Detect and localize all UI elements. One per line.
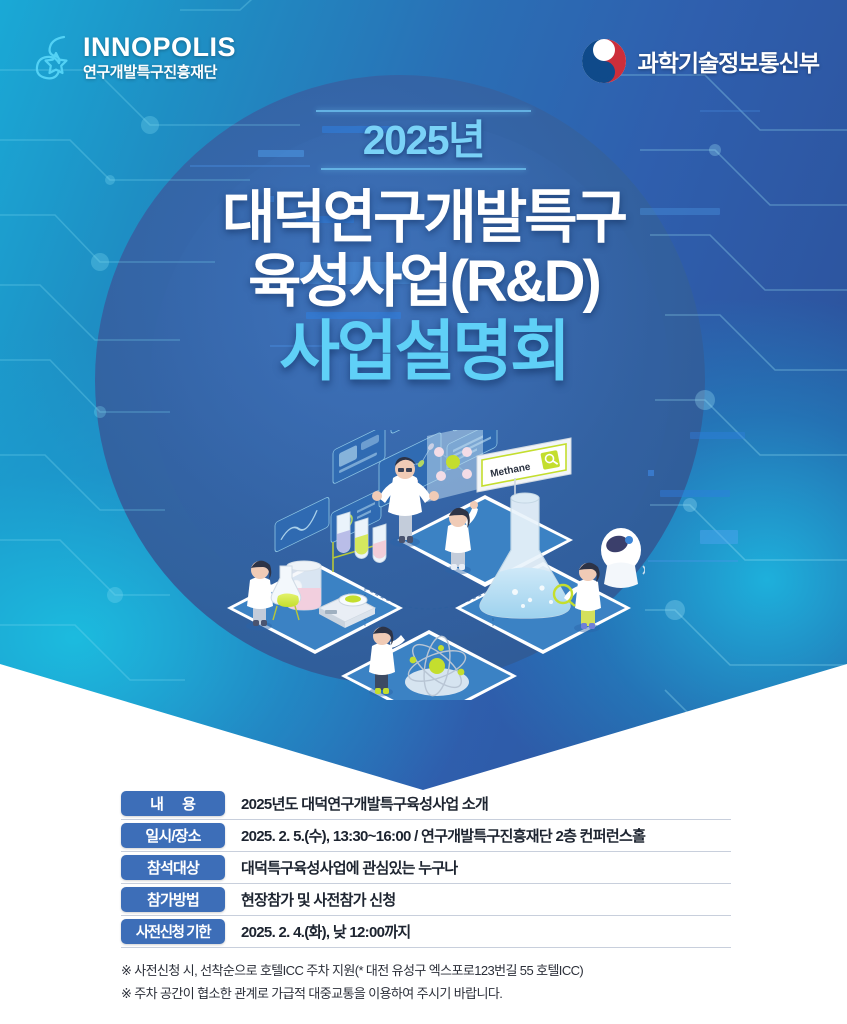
innopolis-logo: INNOPOLIS 연구개발특구진흥재단 xyxy=(34,33,236,81)
deco-pixel-line xyxy=(648,560,738,562)
test-tube-rack xyxy=(333,512,386,572)
headline-block: 대덕연구개발특구 육성사업(R&D) 사업설명회 xyxy=(0,186,847,387)
robot-icon xyxy=(601,528,645,588)
deco-pixel-block xyxy=(700,530,738,544)
table-row: 참석대상 대덕특구육성사업에 관심있는 누구나 xyxy=(121,852,731,884)
deco-pixel-bar xyxy=(690,432,745,439)
footnote-parking-support: ※ 사전신청 시, 선착순으로 호텔ICC 주차 지원(* 대전 유성구 엑스포… xyxy=(121,960,771,983)
table-row: 참가방법 현장참가 및 사전참가 신청 xyxy=(121,884,731,916)
footnote-public-transport: ※ 주차 공간이 협소한 관계로 가급적 대중교통을 이용하여 주시기 바랍니다… xyxy=(121,983,771,1006)
innopolis-logo-ko: 연구개발특구진흥재단 xyxy=(83,65,236,80)
info-label-content: 내 용 xyxy=(121,791,225,816)
year-text: 2025년 xyxy=(0,119,847,162)
magnifier-icon xyxy=(540,450,560,470)
info-value-content: 2025년도 대덕연구개발특구육성사업 소개 xyxy=(241,793,488,814)
year-block: 2025년 xyxy=(0,110,847,170)
info-value-audience: 대덕특구육성사업에 관심있는 누구나 xyxy=(241,857,458,878)
info-value-participation: 현장참가 및 사전참가 신청 xyxy=(241,889,396,910)
taeguk-icon xyxy=(581,38,627,84)
table-row: 내 용 2025년도 대덕연구개발특구육성사업 소개 xyxy=(121,788,731,820)
year-rule-top xyxy=(316,110,531,112)
info-table: 내 용 2025년도 대덕연구개발특구육성사업 소개 일시/장소 2025. 2… xyxy=(121,788,731,948)
info-label-audience: 참석대상 xyxy=(121,855,225,880)
poster-root: ×-× xyxy=(0,0,847,1024)
deco-pixel-bar xyxy=(660,490,730,497)
info-value-deadline: 2025. 2. 4.(화), 낮 12:00까지 xyxy=(241,921,410,942)
info-value-datetime-venue: 2025. 2. 5.(수), 13:30~16:00 / 연구개발특구진흥재단… xyxy=(241,825,645,846)
headline-line-2: 육성사업(R&D) xyxy=(0,250,847,314)
info-label-datetime-venue: 일시/장소 xyxy=(121,823,225,848)
logo-bar: INNOPOLIS 연구개발특구진흥재단 과학기술정보통신부 xyxy=(0,0,847,100)
innopolis-star-swirl-icon xyxy=(34,33,76,81)
table-row: 일시/장소 2025. 2. 5.(수), 13:30~16:00 / 연구개발… xyxy=(121,820,731,852)
table-row: 사전신청 기한 2025. 2. 4.(화), 낮 12:00까지 xyxy=(121,916,731,948)
info-label-participation: 참가방법 xyxy=(121,887,225,912)
headline-accent: 사업설명회 xyxy=(0,316,847,387)
deco-pixel-dot xyxy=(648,470,654,476)
year-rule-bottom xyxy=(321,168,526,170)
ministry-logo: 과학기술정보통신부 xyxy=(581,38,819,84)
footnotes: ※ 사전신청 시, 선착순으로 호텔ICC 주차 지원(* 대전 유성구 엑스포… xyxy=(121,960,771,1006)
lab-illustration: ×-× xyxy=(215,430,645,700)
ministry-label: 과학기술정보통신부 xyxy=(638,44,819,78)
innopolis-logo-en: INNOPOLIS xyxy=(83,34,236,61)
info-label-deadline: 사전신청 기한 xyxy=(121,919,225,944)
headline-line-1: 대덕연구개발특구 xyxy=(0,186,847,250)
